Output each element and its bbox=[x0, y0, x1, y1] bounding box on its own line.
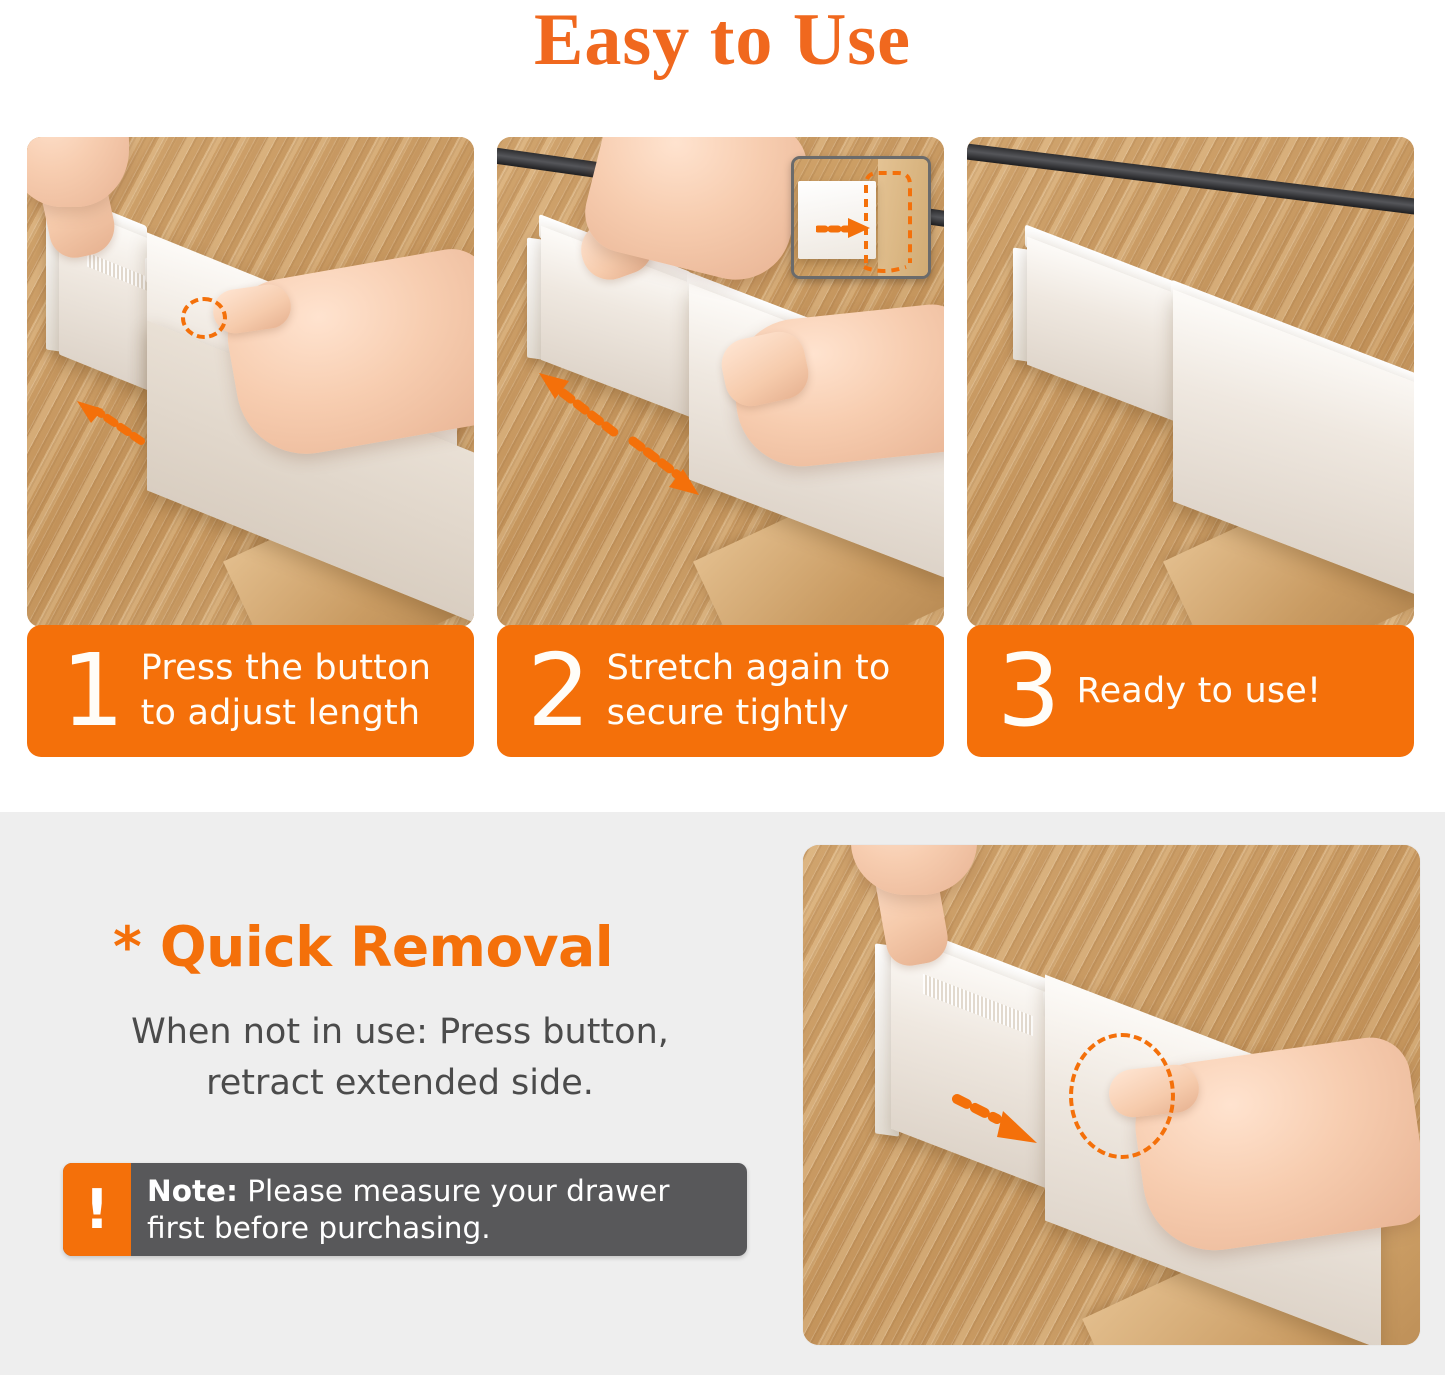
step-1-text: Press the button to adjust length bbox=[141, 646, 431, 736]
step-1: 1 Press the button to adjust length bbox=[27, 137, 474, 757]
exclamation-icon: ! bbox=[63, 1163, 131, 1256]
step-1-number: 1 bbox=[61, 641, 123, 741]
step-1-text-line2: to adjust length bbox=[141, 693, 421, 733]
step-2-text-line2: secure tightly bbox=[607, 693, 849, 733]
step-2-inset-diagram bbox=[791, 156, 931, 279]
step-2-text-line1: Stretch again to bbox=[607, 648, 891, 688]
step-2: 2 Stretch again to secure tightly bbox=[497, 137, 944, 757]
step-3: 3 Ready to use! bbox=[967, 137, 1414, 757]
step-2-photo bbox=[497, 137, 944, 627]
note-text: Note: Please measure your drawer first b… bbox=[131, 1163, 681, 1256]
step-3-photo bbox=[967, 137, 1414, 627]
step-2-label: 2 Stretch again to secure tightly bbox=[497, 625, 944, 757]
inset-right-arrow-icon bbox=[816, 215, 874, 241]
step-1-photo bbox=[27, 137, 474, 627]
button-highlight-circle bbox=[181, 297, 227, 339]
note-text-line2: first before purchasing. bbox=[147, 1211, 491, 1245]
button-highlight-circle bbox=[1069, 1033, 1175, 1159]
step-3-text: Ready to use! bbox=[1077, 669, 1322, 714]
page-title: Easy to Use bbox=[0, 2, 1445, 80]
quick-removal-body: When not in use: Press button, retract e… bbox=[100, 1007, 700, 1109]
step-3-text-line1: Ready to use! bbox=[1077, 671, 1322, 711]
dashed-arrow-right-icon bbox=[951, 1091, 1041, 1149]
quick-removal-photo bbox=[803, 845, 1420, 1345]
quick-removal-body-line2: retract extended side. bbox=[206, 1063, 594, 1103]
quick-removal-title: * Quick Removal bbox=[113, 915, 613, 979]
step-1-text-line1: Press the button bbox=[141, 648, 431, 688]
steps-row: 1 Press the button to adjust length bbox=[0, 137, 1445, 757]
note-label: Note: bbox=[147, 1174, 238, 1208]
exclamation-glyph: ! bbox=[85, 1183, 110, 1237]
product-infographic: Easy to Use bbox=[0, 0, 1445, 1375]
dashed-double-arrow-icon bbox=[533, 369, 703, 499]
note-text-line1: Please measure your drawer bbox=[238, 1174, 670, 1208]
step-2-text: Stretch again to secure tightly bbox=[607, 646, 891, 736]
quick-removal-body-line1: When not in use: Press button, bbox=[131, 1012, 669, 1052]
step-1-label: 1 Press the button to adjust length bbox=[27, 625, 474, 757]
easy-to-use-section: Easy to Use bbox=[0, 0, 1445, 812]
step-3-number: 3 bbox=[997, 641, 1059, 741]
step-2-number: 2 bbox=[527, 641, 589, 741]
dashed-arrow-left-icon bbox=[75, 399, 145, 447]
note-banner: ! Note: Please measure your drawer first… bbox=[63, 1163, 747, 1256]
step-3-label: 3 Ready to use! bbox=[967, 625, 1414, 757]
